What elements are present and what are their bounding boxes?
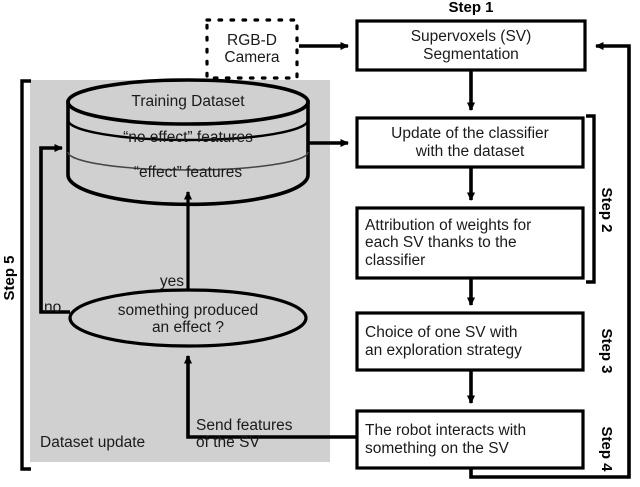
robot-interacts-node[interactable]	[357, 411, 583, 468]
attribution-weights-node[interactable]	[357, 208, 583, 278]
decision-node[interactable]	[70, 290, 306, 346]
database-node[interactable]	[68, 80, 308, 197]
choice-sv-node[interactable]	[357, 313, 583, 370]
flowchart-diagram: Step 1 RGB-D Camera Supervoxels (SV) Seg…	[0, 0, 640, 487]
rgbd-camera-node[interactable]	[207, 20, 297, 78]
update-classifier-node[interactable]	[357, 118, 583, 167]
step-2-bracket	[586, 116, 594, 282]
step-5-bracket	[22, 81, 31, 469]
supervoxels-node[interactable]	[357, 21, 585, 70]
